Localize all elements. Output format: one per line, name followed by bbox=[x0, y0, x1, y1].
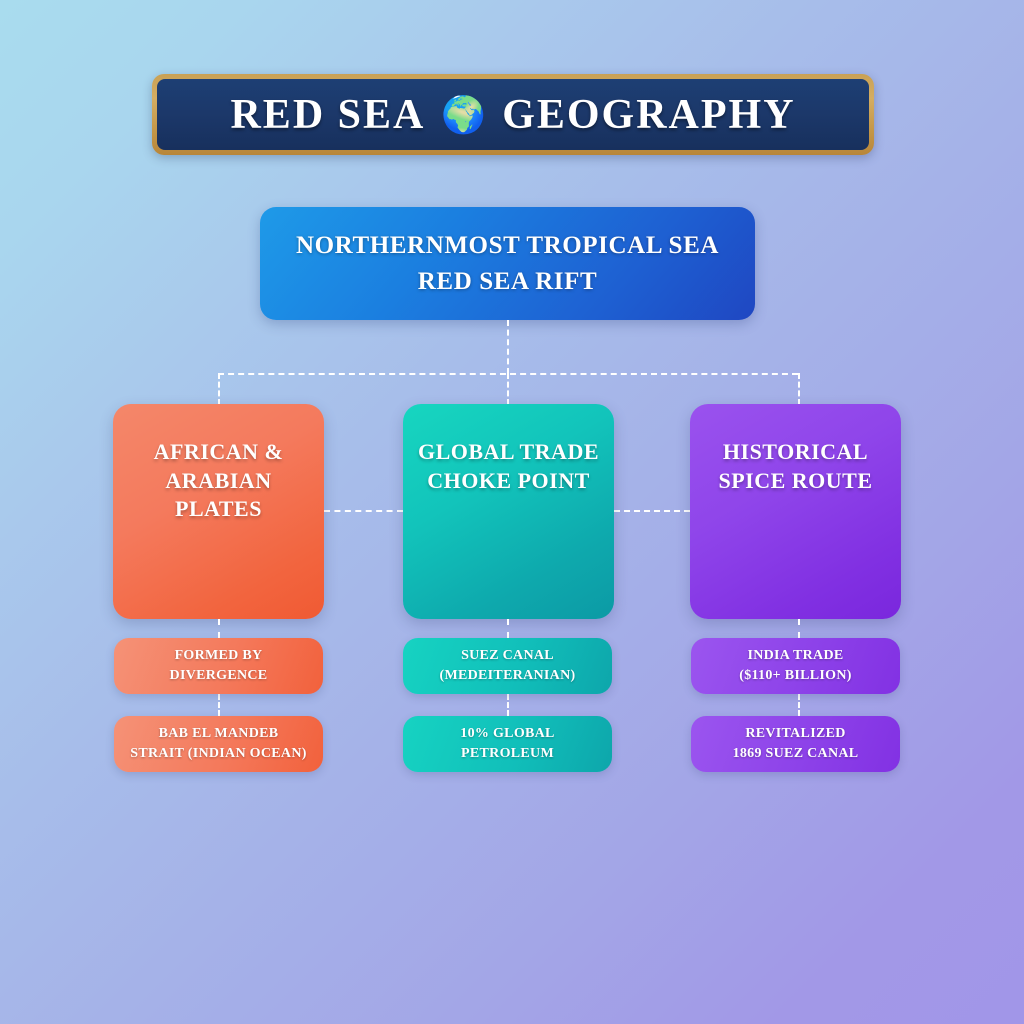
subbox-line-2: (MEDEITERANIAN) bbox=[440, 666, 576, 686]
connector-trade-sub-1-to-2 bbox=[507, 694, 509, 716]
connector-drop-trade bbox=[507, 373, 509, 405]
connector-drop-plates bbox=[218, 373, 220, 405]
page-title-part-1: RED SEA bbox=[230, 91, 425, 139]
subbox-line-2: ($110+ BILLION) bbox=[739, 666, 851, 686]
connector-plates-sub-1-to-2 bbox=[218, 694, 220, 716]
subbox-line-1: FORMED BY bbox=[175, 646, 263, 666]
subbox-line-2: PETROLEUM bbox=[461, 744, 554, 764]
connector-spice-sub-1-to-2 bbox=[798, 694, 800, 716]
subbox-line-2: STRAIT (INDIAN OCEAN) bbox=[130, 744, 306, 764]
subbox-line-1: INDIA TRADE bbox=[747, 646, 843, 666]
subbox-line-1: BAB EL MANDEB bbox=[159, 724, 279, 744]
card-title-line-3: PLATES bbox=[125, 495, 312, 524]
subtitle-line-2: RED SEA RIFT bbox=[418, 264, 597, 300]
connector-subtitle-down bbox=[507, 320, 509, 374]
card-african-arabian-plates[interactable]: AFRICAN & ARABIAN PLATES bbox=[113, 404, 324, 619]
subtitle-box: NORTHERNMOST TROPICAL SEA RED SEA RIFT bbox=[260, 207, 755, 320]
connector-trade-to-spice bbox=[614, 510, 690, 512]
card-title-line-1: GLOBAL TRADE bbox=[415, 438, 602, 467]
subbox-line-2: DIVERGENCE bbox=[170, 666, 268, 686]
connector-spice-to-sub-1 bbox=[798, 619, 800, 638]
card-title-line-2: ARABIAN bbox=[125, 467, 312, 496]
card-title-line-1: AFRICAN & bbox=[125, 438, 312, 467]
subbox-line-1: 10% GLOBAL bbox=[460, 724, 554, 744]
connector-plates-to-trade bbox=[324, 510, 403, 512]
subbox-revitalized-suez-canal[interactable]: REVITALIZED 1869 SUEZ CANAL bbox=[691, 716, 900, 772]
subbox-global-petroleum[interactable]: 10% GLOBAL PETROLEUM bbox=[403, 716, 612, 772]
connector-drop-spice bbox=[798, 373, 800, 405]
connector-trade-to-sub-1 bbox=[507, 619, 509, 638]
card-global-trade-choke-point[interactable]: GLOBAL TRADE CHOKE POINT bbox=[403, 404, 614, 619]
subtitle-line-1: NORTHERNMOST TROPICAL SEA bbox=[296, 228, 719, 264]
subbox-line-1: SUEZ CANAL bbox=[461, 646, 554, 666]
page-title-part-2: GEOGRAPHY bbox=[502, 91, 795, 139]
subbox-india-trade[interactable]: INDIA TRADE ($110+ BILLION) bbox=[691, 638, 900, 694]
title-banner: RED SEA 🌍 GEOGRAPHY bbox=[152, 74, 874, 155]
infographic-canvas: RED SEA 🌍 GEOGRAPHY NORTHERNMOST TROPICA… bbox=[0, 0, 1024, 1024]
subbox-line-1: REVITALIZED bbox=[745, 724, 845, 744]
card-historical-spice-route[interactable]: HISTORICAL SPICE ROUTE bbox=[690, 404, 901, 619]
card-title-line-2: SPICE ROUTE bbox=[702, 467, 889, 496]
subbox-formed-by-divergence[interactable]: FORMED BY DIVERGENCE bbox=[114, 638, 323, 694]
title-banner-inner: RED SEA 🌍 GEOGRAPHY bbox=[157, 79, 869, 150]
subbox-bab-el-mandeb-strait[interactable]: BAB EL MANDEB STRAIT (INDIAN OCEAN) bbox=[114, 716, 323, 772]
connector-plates-to-sub-1 bbox=[218, 619, 220, 638]
subbox-line-2: 1869 SUEZ CANAL bbox=[733, 744, 859, 764]
globe-icon: 🌍 bbox=[441, 97, 486, 133]
card-title-line-1: HISTORICAL bbox=[702, 438, 889, 467]
subbox-suez-canal-mediterranean[interactable]: SUEZ CANAL (MEDEITERANIAN) bbox=[403, 638, 612, 694]
card-title-line-2: CHOKE POINT bbox=[415, 467, 602, 496]
